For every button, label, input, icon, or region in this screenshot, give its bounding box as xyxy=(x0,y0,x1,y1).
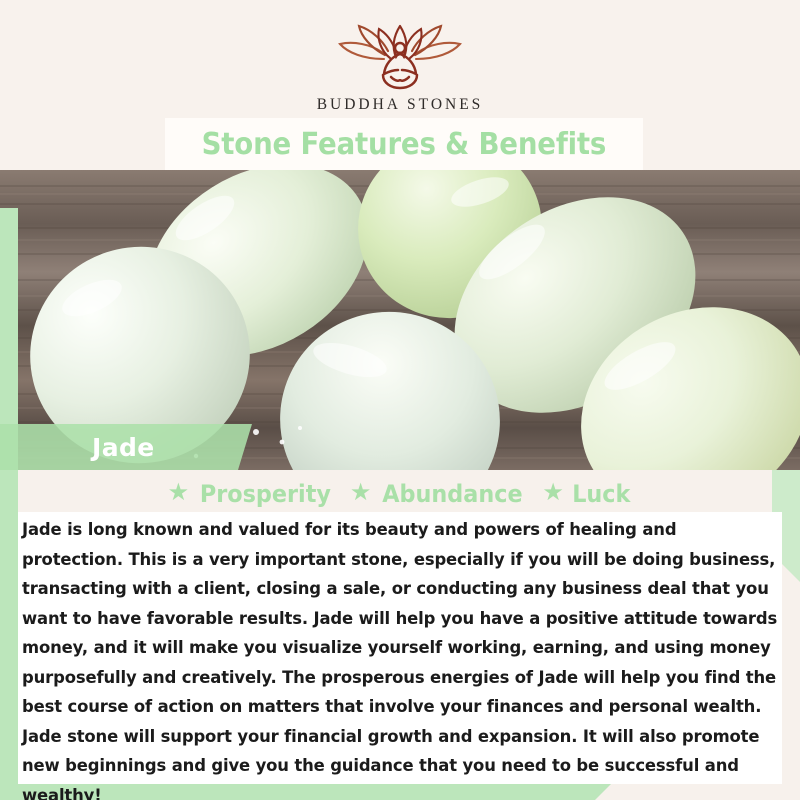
title-band: Stone Features & Benefits xyxy=(165,118,643,170)
star-icon: ★ xyxy=(168,481,190,505)
infographic-page: BUDDHA STONES xyxy=(0,0,800,800)
benefit-item: ★ Abundance xyxy=(350,480,528,508)
stone-name-label: Jade xyxy=(92,433,155,462)
star-icon: ★ xyxy=(542,481,564,505)
benefit-label: Abundance xyxy=(383,480,523,508)
lotus-meditation-icon xyxy=(325,22,475,90)
description-panel: Jade is long known and valued for its be… xyxy=(18,512,782,784)
brand-name: BUDDHA STONES xyxy=(317,96,484,114)
page-title: Stone Features & Benefits xyxy=(202,127,607,162)
benefits-row: ★ Prosperity ★ Abundance ★ Luck xyxy=(0,476,800,512)
benefit-label: Prosperity xyxy=(200,480,331,508)
description-text: Jade is long known and valued for its be… xyxy=(22,516,782,800)
star-icon: ★ xyxy=(350,481,372,505)
benefit-label: Luck xyxy=(572,480,630,508)
benefit-item: ★ Luck xyxy=(542,480,632,508)
benefit-item: ★ Prosperity xyxy=(168,480,336,508)
stone-name-band: Jade xyxy=(0,424,252,470)
